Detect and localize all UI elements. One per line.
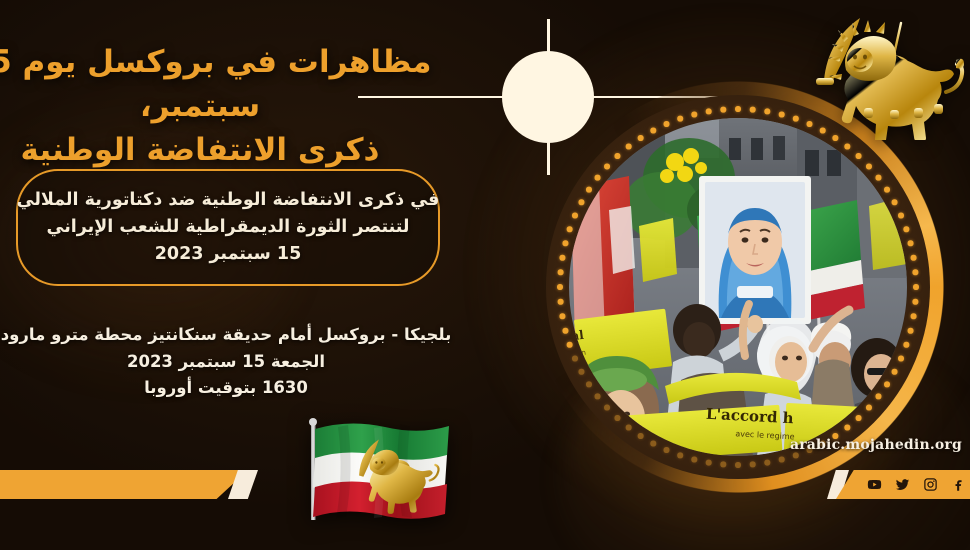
twitter-icon[interactable] bbox=[895, 477, 910, 492]
venue-details: بلجيكا - بروكسل أمام حديقة سنكانتيز محطة… bbox=[0, 322, 452, 402]
site-url[interactable]: arabic.mojahedin.org bbox=[812, 437, 962, 453]
iran-lion-sun-flag bbox=[278, 412, 486, 528]
headline-line-1: مظاهرات في بروكسل يوم 15 سبتمبر، bbox=[0, 44, 431, 124]
lion-and-sun-emblem bbox=[806, 4, 968, 140]
callout-line-1: في ذكرى الانتفاضة الوطنية ضد دكتاتورية ا… bbox=[17, 187, 440, 214]
poster-canvas: مظاهرات في بروكسل يوم 15 سبتمبر، ذكرى ال… bbox=[0, 0, 970, 550]
youtube-icon[interactable] bbox=[867, 477, 882, 492]
decorative-bar-left bbox=[0, 470, 248, 499]
protest-photo: Verrijk de Deal Verrijk van democratie e… bbox=[569, 118, 907, 456]
facebook-icon[interactable] bbox=[951, 477, 966, 492]
venue-date: الجمعة 15 سبتمبر 2023 bbox=[0, 349, 452, 376]
callout-line-3: 15 سبتمبر 2023 bbox=[17, 241, 440, 268]
photo-medallion: Verrijk de Deal Verrijk van democratie e… bbox=[528, 77, 948, 497]
callout-box: في ذكرى الانتفاضة الوطنية ضد دكتاتورية ا… bbox=[16, 169, 440, 286]
callout-text: في ذكرى الانتفاضة الوطنية ضد دكتاتورية ا… bbox=[3, 187, 454, 268]
callout-line-2: لتنتصر الثورة الديمقراطية للشعب الإيراني bbox=[17, 214, 440, 241]
instagram-icon[interactable] bbox=[923, 477, 938, 492]
venue-time: 1630 بتوقيت أوروبا bbox=[0, 375, 452, 402]
headline-line-2: ذكرى الانتفاضة الوطنية bbox=[0, 128, 460, 172]
page-title: مظاهرات في بروكسل يوم 15 سبتمبر، ذكرى ال… bbox=[0, 40, 460, 172]
venue-location: بلجيكا - بروكسل أمام حديقة سنكانتيز محطة… bbox=[0, 322, 452, 349]
social-links-bar bbox=[836, 470, 970, 499]
